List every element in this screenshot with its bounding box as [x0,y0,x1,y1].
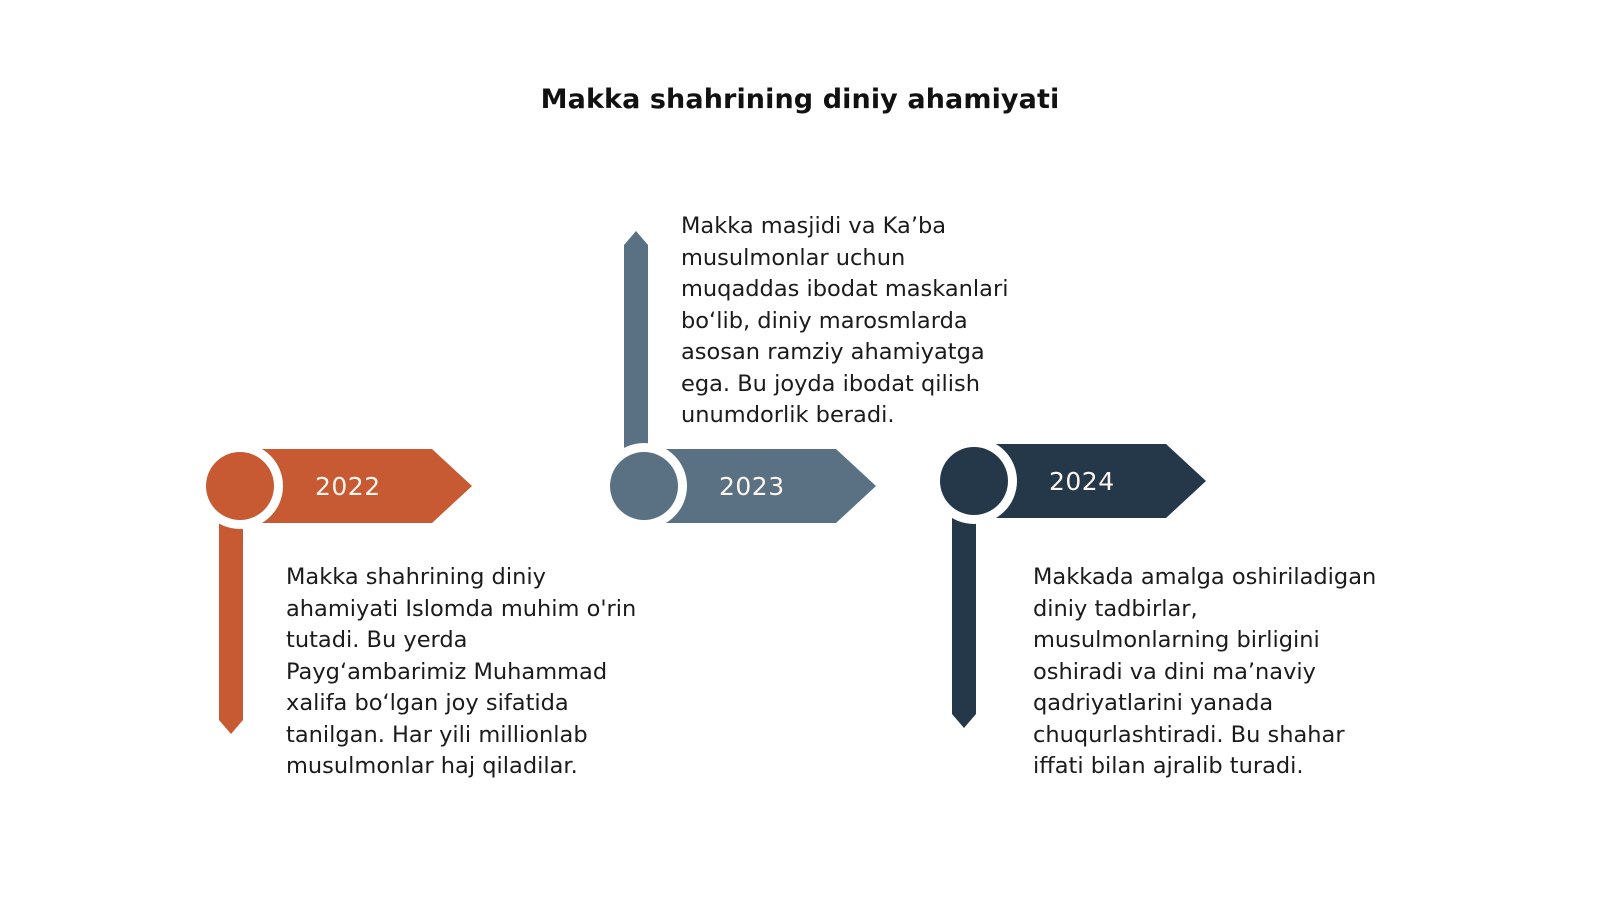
description-2024: Makkada amalga oshiriladigan diniy tadbi… [1033,562,1385,783]
year-label-2024: 2024 [1049,467,1115,496]
node-dot-2024[interactable] [940,447,1008,515]
page-title: Makka shahrining diniy ahamiyati [0,84,1600,115]
year-label-2023: 2023 [719,472,785,501]
year-banner-2024[interactable]: 2024 [990,444,1206,518]
description-2023: Makka masjidi va Ka’ba musulmonlar uchun… [681,211,1011,432]
node-dot-2023[interactable] [610,452,678,520]
year-banner-2022[interactable]: 2022 [256,449,472,523]
connector-stem-2023 [624,231,648,471]
year-banner-2023[interactable]: 2023 [660,449,876,523]
description-2022: Makka shahrining diniy ahamiyati Islomda… [286,562,638,783]
timeline-infographic: Makka shahrining diniy ahamiyati 2022 Ma… [0,0,1600,900]
node-dot-2022[interactable] [206,452,274,520]
year-label-2022: 2022 [315,472,381,501]
